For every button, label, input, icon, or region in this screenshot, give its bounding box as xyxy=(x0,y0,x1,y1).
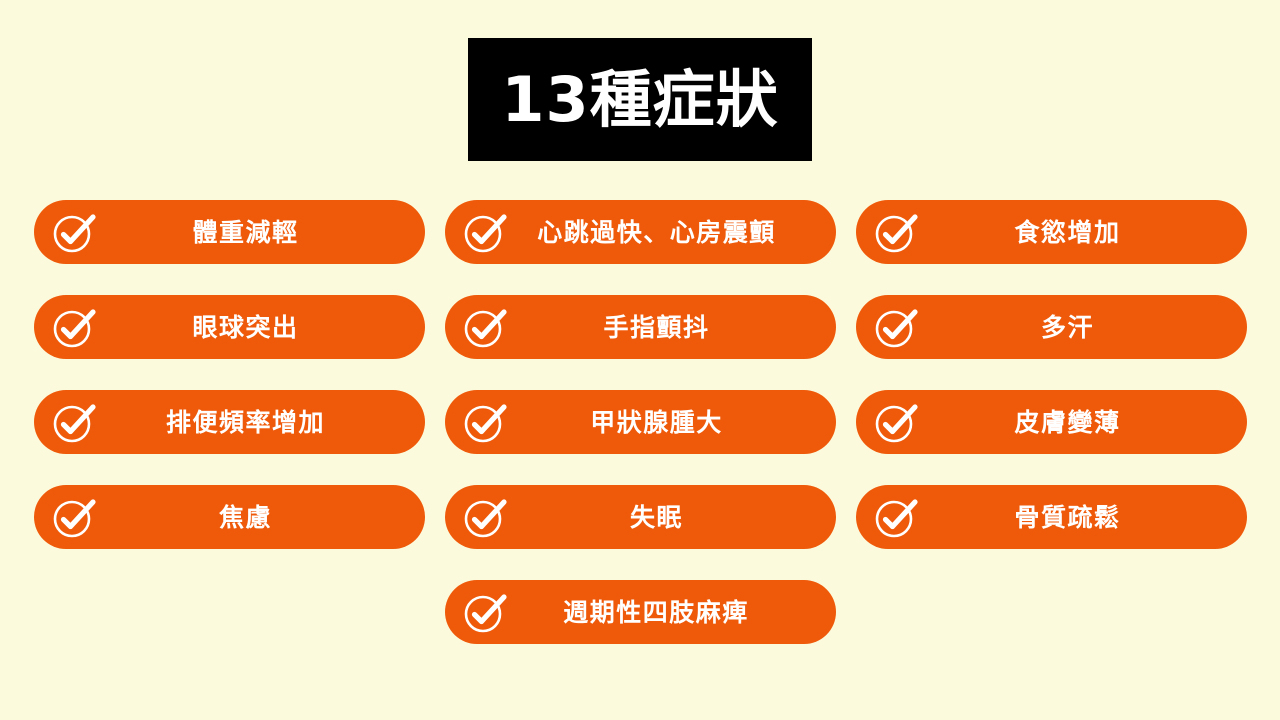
symptom-item-4[interactable]: 眼球突出 xyxy=(34,295,425,359)
symptom-row: 焦慮 失眠 骨質疏鬆 xyxy=(34,485,1246,549)
symptom-row: 眼球突出 手指顫抖 多汗 xyxy=(34,295,1246,359)
symptom-item-11[interactable]: 失眠 xyxy=(445,485,836,549)
check-circle-icon xyxy=(870,206,922,258)
symptom-item-2[interactable]: 心跳過快、心房震顫 xyxy=(445,200,836,264)
check-circle-icon xyxy=(48,206,100,258)
symptom-label: 食慾增加 xyxy=(974,220,1128,245)
symptom-label: 焦慮 xyxy=(179,505,280,530)
symptom-row: 排便頻率增加 甲狀腺腫大 皮膚變薄 xyxy=(34,390,1246,454)
symptom-label: 失眠 xyxy=(590,505,691,530)
symptom-item-7[interactable]: 排便頻率增加 xyxy=(34,390,425,454)
symptom-list: 體重減輕 心跳過快、心房震顫 食慾增加 xyxy=(34,200,1246,644)
check-circle-icon xyxy=(459,396,511,448)
symptom-item-9[interactable]: 皮膚變薄 xyxy=(856,390,1247,454)
symptom-item-10[interactable]: 焦慮 xyxy=(34,485,425,549)
symptom-item-5[interactable]: 手指顫抖 xyxy=(445,295,836,359)
check-circle-icon xyxy=(459,491,511,543)
check-circle-icon xyxy=(459,301,511,353)
symptom-item-6[interactable]: 多汗 xyxy=(856,295,1247,359)
symptom-item-3[interactable]: 食慾增加 xyxy=(856,200,1247,264)
check-circle-icon xyxy=(870,491,922,543)
check-circle-icon xyxy=(48,301,100,353)
symptom-label: 心跳過快、心房震顫 xyxy=(497,220,784,245)
symptom-label: 多汗 xyxy=(1001,315,1102,340)
symptom-item-12[interactable]: 骨質疏鬆 xyxy=(856,485,1247,549)
symptom-row: 體重減輕 心跳過快、心房震顫 食慾增加 xyxy=(34,200,1246,264)
symptom-label: 手指顫抖 xyxy=(563,315,717,340)
symptom-item-13[interactable]: 週期性四肢麻痺 xyxy=(445,580,836,644)
check-circle-icon xyxy=(870,396,922,448)
check-circle-icon xyxy=(459,586,511,638)
symptom-label: 甲狀腺腫大 xyxy=(550,410,731,435)
title-banner: 13種症狀 xyxy=(468,38,812,161)
check-circle-icon xyxy=(870,301,922,353)
symptom-label: 排便頻率增加 xyxy=(126,410,333,435)
symptom-label: 體重減輕 xyxy=(152,220,306,245)
check-circle-icon xyxy=(48,396,100,448)
symptom-label: 皮膚變薄 xyxy=(974,410,1128,435)
symptom-item-1[interactable]: 體重減輕 xyxy=(34,200,425,264)
symptom-item-8[interactable]: 甲狀腺腫大 xyxy=(445,390,836,454)
symptom-row: 週期性四肢麻痺 xyxy=(34,580,1246,644)
page-title: 13種症狀 xyxy=(501,69,778,131)
symptom-label: 眼球突出 xyxy=(152,315,306,340)
symptom-label: 骨質疏鬆 xyxy=(974,505,1128,530)
check-circle-icon xyxy=(48,491,100,543)
symptom-label: 週期性四肢麻痺 xyxy=(523,600,757,625)
